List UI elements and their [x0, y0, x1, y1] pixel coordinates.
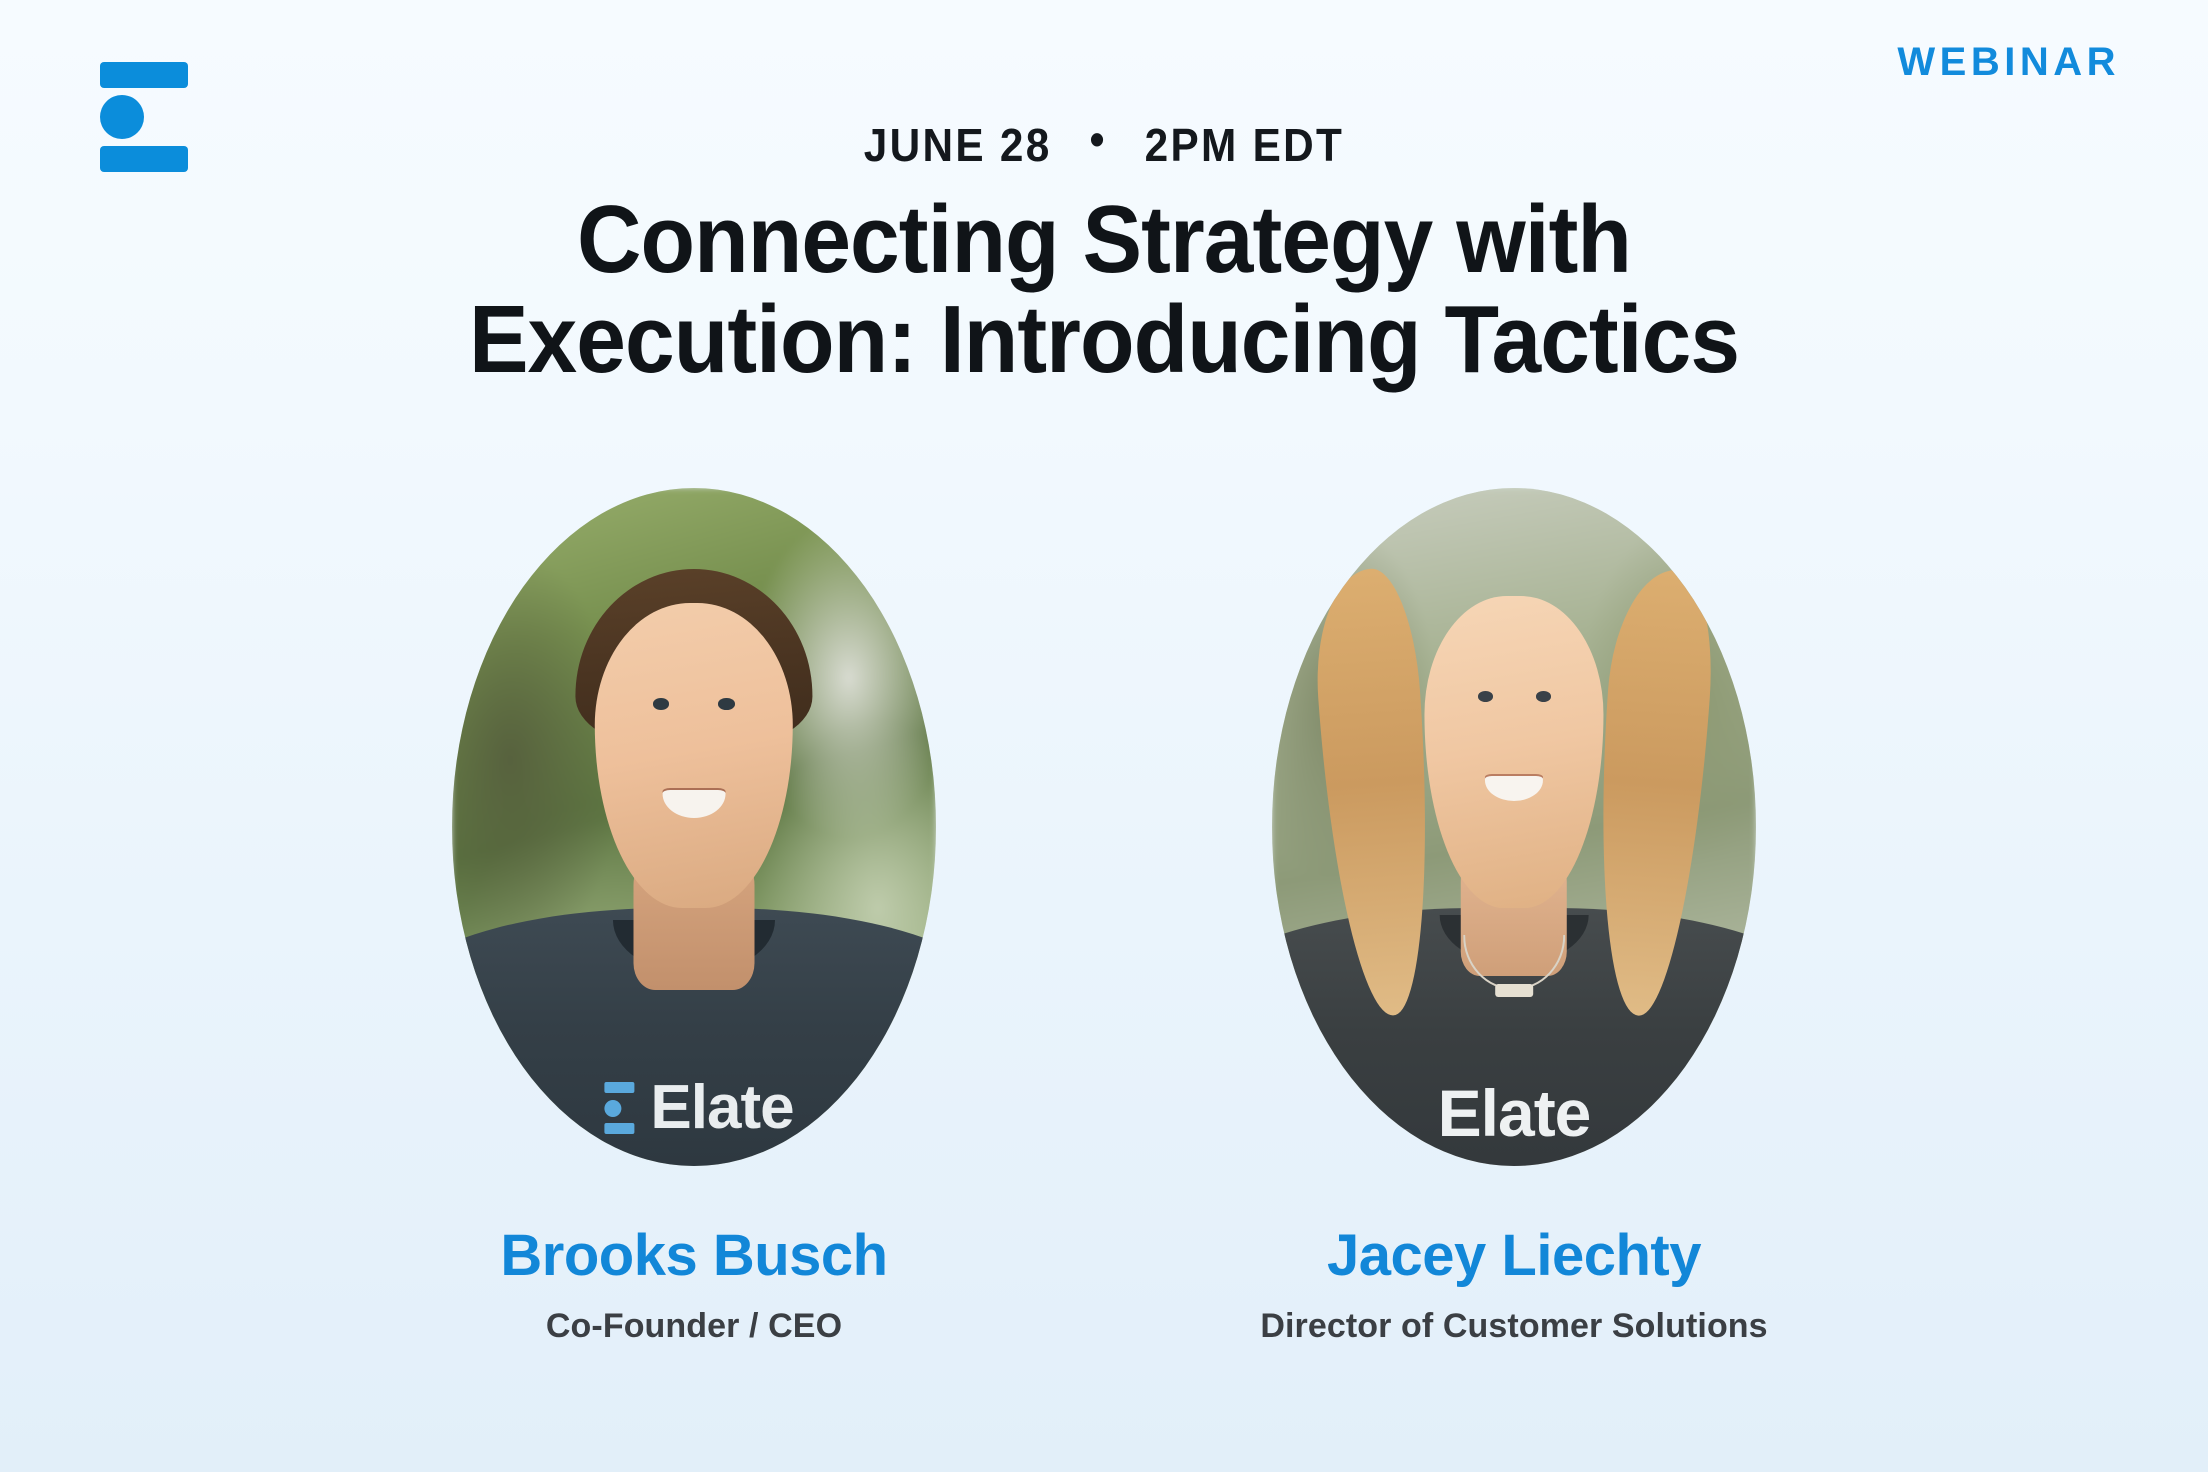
- avatar: Elate: [1272, 488, 1756, 1166]
- speaker-title: Director of Customer Solutions: [1260, 1307, 1767, 1346]
- headshot-brooks-busch: Elate: [452, 488, 936, 1166]
- eye-left: [653, 698, 669, 710]
- headshot-jacey-liechty: Elate: [1272, 488, 1756, 1166]
- speaker-card-jacey-liechty: Elate Jacey Liechty Director of Customer…: [1254, 488, 1774, 1346]
- shirt-elate-logo-icon: Elate: [1438, 1080, 1591, 1146]
- eye-right: [718, 698, 734, 710]
- event-time: 2PM EDT: [1145, 119, 1345, 171]
- datetime-separator-icon: •: [1090, 112, 1107, 166]
- shirt-elate-logo-icon: Elate: [594, 1077, 793, 1139]
- logo-bar-top: [100, 62, 188, 88]
- speaker-list: Elate Brooks Busch Co-Founder / CEO: [0, 488, 2208, 1346]
- speaker-name: Jacey Liechty: [1327, 1222, 1701, 1289]
- shirt-wordmark: Elate: [1438, 1080, 1591, 1146]
- speaker-title: Co-Founder / CEO: [546, 1307, 842, 1346]
- event-datetime: JUNE 28 • 2PM EDT: [199, 118, 2010, 172]
- avatar: Elate: [452, 488, 936, 1166]
- page-title: Connecting Strategy with Execution: Intr…: [189, 190, 2019, 390]
- webinar-eyebrow: WEBINAR: [1897, 40, 2120, 85]
- page-title-line-2: Execution: Introducing Tactics: [189, 290, 2019, 390]
- speaker-card-brooks-busch: Elate Brooks Busch Co-Founder / CEO: [434, 488, 954, 1346]
- shirt-wordmark: Elate: [650, 1077, 793, 1139]
- event-date: JUNE 28: [864, 119, 1052, 171]
- page-title-line-1: Connecting Strategy with: [189, 190, 2019, 290]
- shirt-logo-mark-icon: [594, 1082, 634, 1134]
- speaker-name: Brooks Busch: [500, 1222, 887, 1289]
- header-block: JUNE 28 • 2PM EDT Connecting Strategy wi…: [0, 118, 2208, 390]
